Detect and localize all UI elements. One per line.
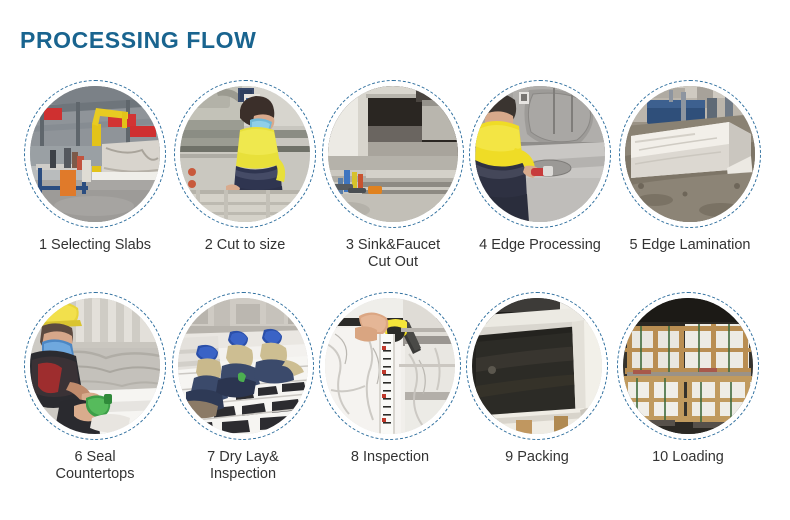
process-step-9[interactable]: 9 Packing — [462, 292, 612, 466]
step-9-circle — [466, 292, 608, 440]
step-4-dashed-ring — [469, 80, 611, 228]
step-2-circle — [174, 80, 316, 228]
step-8-label: 8 Inspection — [315, 449, 465, 466]
step-10-label: 10 Loading — [613, 449, 763, 466]
processing-flow-page: PROCESSING FLOW — [0, 0, 790, 520]
step-6-circle — [24, 292, 166, 440]
process-step-5[interactable]: 5 Edge Lamination — [615, 80, 765, 254]
step-3-dashed-ring — [322, 80, 464, 228]
process-step-6[interactable]: 6 Seal Countertops — [20, 292, 170, 483]
step-2-dashed-ring — [174, 80, 316, 228]
process-step-3[interactable]: 3 Sink&Faucet Cut Out — [318, 80, 468, 271]
step-7-dashed-ring — [172, 292, 314, 440]
step-5-dashed-ring — [619, 80, 761, 228]
step-10-dashed-ring — [617, 292, 759, 440]
process-step-8[interactable]: 8 Inspection — [315, 292, 465, 466]
step-8-circle — [319, 292, 461, 440]
step-5-label: 5 Edge Lamination — [605, 237, 775, 254]
process-step-10[interactable]: 10 Loading — [613, 292, 763, 466]
process-step-7[interactable]: 7 Dry Lay& Inspection — [168, 292, 318, 483]
step-6-label: 6 Seal Countertops — [20, 449, 170, 483]
step-1-dashed-ring — [24, 80, 166, 228]
step-10-circle — [617, 292, 759, 440]
process-step-4[interactable]: 4 Edge Processing — [465, 80, 615, 254]
process-step-1[interactable]: 1 Selecting Slabs — [20, 80, 170, 254]
step-4-label: 4 Edge Processing — [455, 237, 625, 254]
step-7-circle — [172, 292, 314, 440]
step-8-dashed-ring — [319, 292, 461, 440]
step-1-circle — [24, 80, 166, 228]
step-4-circle — [469, 80, 611, 228]
step-7-label: 7 Dry Lay& Inspection — [168, 449, 318, 483]
step-2-label: 2 Cut to size — [170, 237, 320, 254]
step-1-label: 1 Selecting Slabs — [20, 237, 170, 254]
step-9-dashed-ring — [466, 292, 608, 440]
step-6-dashed-ring — [24, 292, 166, 440]
step-5-circle — [619, 80, 761, 228]
step-9-label: 9 Packing — [462, 449, 612, 466]
process-step-2[interactable]: 2 Cut to size — [170, 80, 320, 254]
step-3-circle — [322, 80, 464, 228]
step-3-label: 3 Sink&Faucet Cut Out — [308, 237, 478, 271]
page-title: PROCESSING FLOW — [20, 27, 256, 54]
